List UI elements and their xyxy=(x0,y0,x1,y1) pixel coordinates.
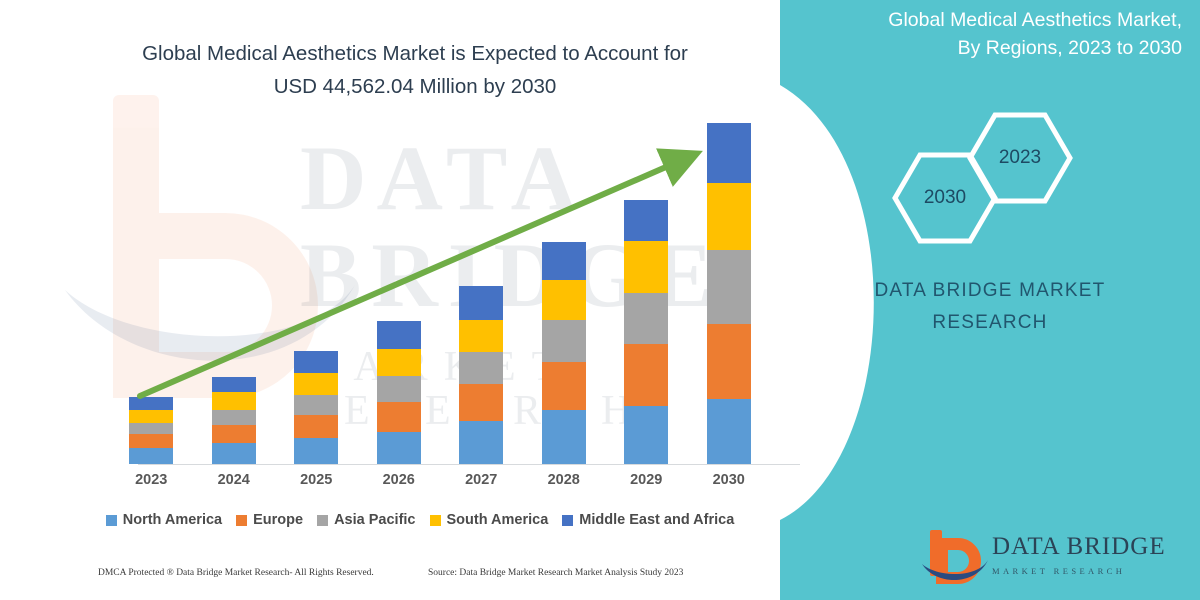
bar-segment-asia-pacific xyxy=(624,293,668,345)
x-axis-label-2028: 2028 xyxy=(523,472,606,488)
legend-swatch-icon xyxy=(317,515,328,526)
bar-segment-middle-east-and-africa xyxy=(542,242,586,280)
bar-segment-middle-east-and-africa xyxy=(624,200,668,241)
bar-segment-middle-east-and-africa xyxy=(129,397,173,410)
x-axis-label-2030: 2030 xyxy=(688,472,771,488)
hexagon-badge-2023-label: 2023 xyxy=(965,110,1075,206)
x-axis-label-2025: 2025 xyxy=(275,472,358,488)
panel-title-line2: By Regions, 2023 to 2030 xyxy=(800,34,1182,62)
footer-copyright: DMCA Protected ® Data Bridge Market Rese… xyxy=(98,568,374,578)
bar-segment-south-america xyxy=(542,280,586,321)
hexagon-badge-2023: 2023 xyxy=(965,110,1075,206)
x-axis-label-2024: 2024 xyxy=(193,472,276,488)
bar-column-2029 xyxy=(605,120,688,464)
bar-segment-north-america xyxy=(459,421,503,464)
bar-segment-europe xyxy=(624,344,668,406)
legend-item-north-america[interactable]: North America xyxy=(106,512,222,528)
bar-segment-south-america xyxy=(624,241,668,293)
company-logo-text: DATA BRIDGE MARKET RESEARCH xyxy=(992,534,1166,576)
bar-column-2026 xyxy=(358,120,441,464)
bar-segment-north-america xyxy=(707,399,751,464)
bar-column-2023 xyxy=(110,120,193,464)
bar-segment-asia-pacific xyxy=(707,250,751,325)
stacked-bar xyxy=(707,123,751,464)
page-title-line1: Global Medical Aesthetics Market is Expe… xyxy=(60,38,770,71)
panel-brand-name: DATA BRIDGE MARKET RESEARCH xyxy=(780,275,1200,340)
bar-segment-south-america xyxy=(459,320,503,352)
bar-segment-north-america xyxy=(129,448,173,464)
bar-segment-europe xyxy=(542,362,586,410)
bar-segment-middle-east-and-africa xyxy=(294,351,338,373)
legend-swatch-icon xyxy=(236,515,247,526)
legend-label: North America xyxy=(123,512,222,528)
x-axis-label-2026: 2026 xyxy=(358,472,441,488)
bar-column-2024 xyxy=(193,120,276,464)
bar-segment-middle-east-and-africa xyxy=(212,377,256,392)
bar-segment-south-america xyxy=(294,373,338,395)
bar-segment-middle-east-and-africa xyxy=(377,321,421,349)
bar-segment-europe xyxy=(377,402,421,432)
legend-item-south-america[interactable]: South America xyxy=(430,512,549,528)
bar-segment-asia-pacific xyxy=(542,320,586,362)
page-title-line2: USD 44,562.04 Million by 2030 xyxy=(60,71,770,104)
stacked-bar xyxy=(294,351,338,464)
bar-segment-europe xyxy=(212,425,256,443)
panel-title-line1: Global Medical Aesthetics Market, xyxy=(800,6,1182,34)
bar-segment-europe xyxy=(294,415,338,438)
bar-segment-europe xyxy=(707,324,751,399)
company-logo-name: DATA BRIDGE xyxy=(992,534,1166,559)
page-title: Global Medical Aesthetics Market is Expe… xyxy=(60,38,770,104)
legend-item-europe[interactable]: Europe xyxy=(236,512,303,528)
bar-segment-europe xyxy=(129,434,173,448)
legend-swatch-icon xyxy=(430,515,441,526)
bar-group xyxy=(110,120,770,464)
bar-column-2028 xyxy=(523,120,606,464)
bar-segment-europe xyxy=(459,384,503,421)
legend-label: Middle East and Africa xyxy=(579,512,734,528)
legend-item-middle-east-and-africa[interactable]: Middle East and Africa xyxy=(562,512,734,528)
bar-segment-south-america xyxy=(377,349,421,376)
legend-label: South America xyxy=(447,512,549,528)
legend-swatch-icon xyxy=(106,515,117,526)
chart-plot-area: 20232024202520262027202820292030 xyxy=(110,120,770,465)
bar-segment-asia-pacific xyxy=(294,395,338,415)
bar-segment-asia-pacific xyxy=(377,376,421,402)
legend-label: Europe xyxy=(253,512,303,528)
bar-segment-middle-east-and-africa xyxy=(459,286,503,321)
legend-label: Asia Pacific xyxy=(334,512,415,528)
x-axis-label-2029: 2029 xyxy=(605,472,688,488)
stacked-bar-chart: 20232024202520262027202820292030 xyxy=(80,120,780,470)
bar-segment-north-america xyxy=(212,443,256,464)
bar-segment-north-america xyxy=(294,438,338,464)
bar-segment-asia-pacific xyxy=(212,410,256,425)
bar-segment-south-america xyxy=(212,392,256,410)
x-axis-label-2027: 2027 xyxy=(440,472,523,488)
legend-swatch-icon xyxy=(562,515,573,526)
x-axis-label-2023: 2023 xyxy=(110,472,193,488)
stacked-bar xyxy=(377,321,421,464)
bar-column-2030 xyxy=(688,120,771,464)
bar-column-2025 xyxy=(275,120,358,464)
bar-segment-north-america xyxy=(377,432,421,464)
bar-segment-north-america xyxy=(624,406,668,464)
bar-segment-middle-east-and-africa xyxy=(707,123,751,183)
company-logo: DATA BRIDGE MARKET RESEARCH xyxy=(920,528,1170,590)
footer-source: Source: Data Bridge Market Research Mark… xyxy=(428,568,683,578)
stacked-bar xyxy=(459,286,503,464)
bar-column-2027 xyxy=(440,120,523,464)
stacked-bar xyxy=(129,397,173,464)
x-axis-line xyxy=(138,464,800,465)
company-logo-tagline: MARKET RESEARCH xyxy=(992,566,1166,576)
data-bridge-b-icon xyxy=(920,528,990,588)
bar-segment-north-america xyxy=(542,410,586,464)
brand-panel-content: Global Medical Aesthetics Market, By Reg… xyxy=(780,0,1200,600)
stacked-bar xyxy=(624,200,668,464)
stacked-bar xyxy=(542,242,586,464)
panel-brand-line1: DATA BRIDGE MARKET xyxy=(780,275,1200,307)
footer: DMCA Protected ® Data Bridge Market Rese… xyxy=(0,568,800,592)
panel-title: Global Medical Aesthetics Market, By Reg… xyxy=(800,6,1182,63)
chart-legend: North AmericaEuropeAsia PacificSouth Ame… xyxy=(60,512,780,528)
bar-segment-south-america xyxy=(129,410,173,423)
stacked-bar xyxy=(212,377,256,464)
panel-brand-line2: RESEARCH xyxy=(780,307,1200,339)
bar-segment-asia-pacific xyxy=(459,352,503,384)
x-axis-labels: 20232024202520262027202820292030 xyxy=(110,472,770,488)
infographic-canvas: DATA BRIDGE MARKET RESEARCH Global Medic… xyxy=(0,0,1200,600)
legend-item-asia-pacific[interactable]: Asia Pacific xyxy=(317,512,415,528)
bar-segment-south-america xyxy=(707,183,751,250)
bar-segment-asia-pacific xyxy=(129,423,173,434)
